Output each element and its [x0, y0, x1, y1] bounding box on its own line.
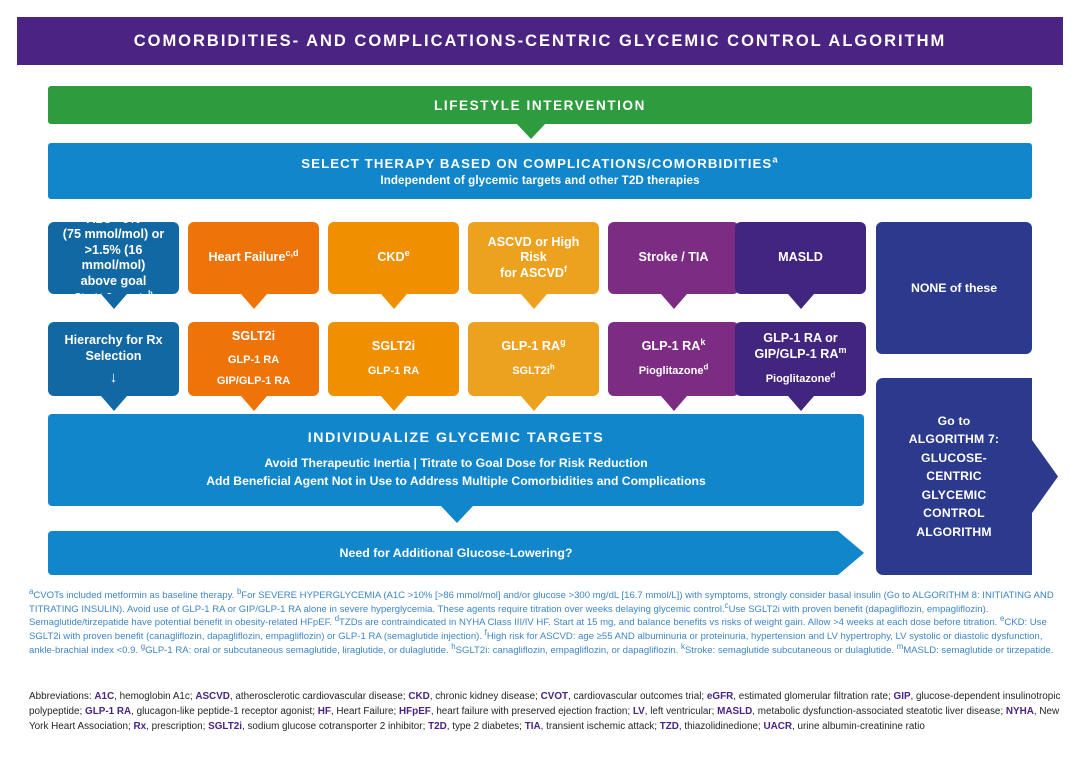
- treatment-secondary-label: GLP-1 RA: [228, 353, 279, 368]
- down-arrow-icon: [381, 396, 407, 411]
- treatment-box-a1c[interactable]: Hierarchy for RxSelection↓: [48, 322, 179, 396]
- treatment-primary-label: GLP-1 RAg: [501, 339, 565, 355]
- condition-header-masld[interactable]: MASLD: [735, 222, 866, 294]
- treatment-box-heart-failure[interactable]: SGLT2iGLP-1 RAGIP/GLP-1 RA: [188, 322, 319, 396]
- down-arrow-icon: [101, 396, 127, 411]
- treatment-secondary-label: Pioglitazoned: [639, 364, 709, 379]
- down-arrow-icon: [788, 396, 814, 411]
- goto-algorithm7-box: Go toALGORITHM 7:GLUCOSE-CENTRICGLYCEMIC…: [876, 378, 1058, 575]
- down-arrow-icon: [101, 294, 127, 309]
- treatment-primary-label: SGLT2i: [372, 339, 415, 355]
- individualize-line2: Avoid Therapeutic Inertia | Titrate to G…: [206, 455, 706, 473]
- down-arrow-icon: [661, 294, 687, 309]
- condition-header-label: MASLD: [778, 250, 823, 266]
- condition-header-ascvd[interactable]: ASCVD or High Riskfor ASCVDf: [468, 222, 599, 294]
- down-arrow-icon: [661, 396, 687, 411]
- down-arrow-icon: [516, 123, 546, 139]
- page-title: COMORBIDITIES- AND COMPLICATIONS-CENTRIC…: [17, 17, 1063, 65]
- treatment-secondary-label: SGLT2ih: [512, 364, 555, 379]
- condition-header-label: Heart Failurec,d: [208, 250, 298, 266]
- treatment-secondary-label: GLP-1 RA: [368, 364, 419, 379]
- need-additional-glucose-lowering-banner: Need for Additional Glucose-Lowering?: [48, 531, 864, 575]
- individualize-detail: Avoid Therapeutic Inertia | Titrate to G…: [206, 455, 706, 490]
- treatment-box-masld[interactable]: GLP-1 RA orGIP/GLP-1 RAmPioglitazoned: [735, 322, 866, 396]
- treatment-box-stroke-tia[interactable]: GLP-1 RAkPioglitazoned: [608, 322, 739, 396]
- select-therapy-line1: SELECT THERAPY BASED ON COMPLICATIONS/CO…: [301, 156, 778, 171]
- treatment-tertiary-label: GIP/GLP-1 RA: [217, 374, 290, 389]
- condition-header-label: A1C >9%(75 mmol/mol) or>1.5% (16 mmol/mo…: [53, 212, 174, 290]
- down-arrow-glyph-icon: ↓: [110, 370, 118, 385]
- treatment-primary-label: Hierarchy for RxSelection: [65, 333, 163, 364]
- treatment-primary-label: GLP-1 RA orGIP/GLP-1 RAm: [754, 331, 846, 362]
- treatment-box-ascvd[interactable]: GLP-1 RAgSGLT2ih: [468, 322, 599, 396]
- none-of-these-box: NONE of these: [876, 222, 1032, 354]
- goto-algorithm7-label: Go toALGORITHM 7:GLUCOSE-CENTRICGLYCEMIC…: [876, 378, 1032, 575]
- down-arrow-icon: [521, 396, 547, 411]
- algorithm-diagram: COMORBIDITIES- AND COMPLICATIONS-CENTRIC…: [0, 0, 1080, 769]
- treatment-primary-label: GLP-1 RAk: [642, 339, 706, 355]
- goto-line: ALGORITHM: [909, 523, 999, 542]
- condition-header-heart-failure[interactable]: Heart Failurec,d: [188, 222, 319, 294]
- goto-line: ALGORITHM 7:: [909, 430, 999, 449]
- footnotes-text: aCVOTs included metformin as baseline th…: [29, 589, 1062, 657]
- goto-line: CONTROL: [909, 504, 999, 523]
- goto-line: Go to: [909, 412, 999, 431]
- select-therapy-line2: Independent of glycemic targets and othe…: [380, 174, 699, 187]
- treatment-primary-label: SGLT2i: [232, 329, 275, 345]
- down-arrow-icon: [788, 294, 814, 309]
- abbreviations-text: Abbreviations: A1C, hemoglobin A1c; ASCV…: [29, 689, 1062, 734]
- individualize-line3: Add Beneficial Agent Not in Use to Addre…: [206, 473, 706, 491]
- lifestyle-intervention-banner: LIFESTYLE INTERVENTION: [48, 86, 1032, 124]
- condition-header-stroke-tia[interactable]: Stroke / TIA: [608, 222, 739, 294]
- goto-line: GLYCEMIC: [909, 486, 999, 505]
- down-arrow-icon: [521, 294, 547, 309]
- condition-header-label: ASCVD or High Riskfor ASCVDf: [473, 235, 594, 282]
- select-therapy-banner: SELECT THERAPY BASED ON COMPLICATIONS/CO…: [48, 143, 1032, 199]
- down-arrow-icon: [241, 294, 267, 309]
- individualize-heading: INDIVIDUALIZE GLYCEMIC TARGETS: [308, 430, 604, 446]
- condition-header-label: Stroke / TIA: [639, 250, 709, 266]
- goto-line: GLUCOSE-: [909, 449, 999, 468]
- down-arrow-icon: [241, 396, 267, 411]
- condition-header-ckd[interactable]: CKDe: [328, 222, 459, 294]
- down-arrow-icon: [381, 294, 407, 309]
- down-arrow-icon: [441, 506, 473, 523]
- treatment-secondary-label: Pioglitazoned: [766, 372, 836, 387]
- condition-header-label: CKDe: [377, 250, 409, 266]
- goto-line: CENTRIC: [909, 467, 999, 486]
- individualize-targets-banner: INDIVIDUALIZE GLYCEMIC TARGETS Avoid The…: [48, 414, 864, 506]
- condition-header-a1c[interactable]: A1C >9%(75 mmol/mol) or>1.5% (16 mmol/mo…: [48, 222, 179, 294]
- treatment-box-ckd[interactable]: SGLT2iGLP-1 RA: [328, 322, 459, 396]
